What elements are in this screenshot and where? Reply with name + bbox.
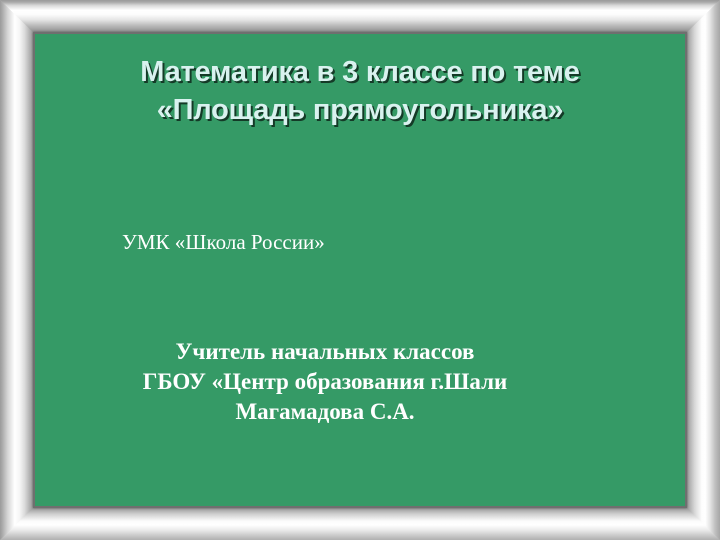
frame-border-left xyxy=(0,0,35,540)
presentation-slide: Математика в 3 классе по теме «Площадь п… xyxy=(0,0,720,540)
slide-board: Математика в 3 классе по теме «Площадь п… xyxy=(35,34,685,506)
frame-border-top xyxy=(0,0,720,34)
author-name: Магамадова С.А. xyxy=(35,397,615,427)
slide-author-block: Учитель начальных классов ГБОУ «Центр об… xyxy=(35,337,615,427)
slide-title-line-2: «Площадь прямоугольника» xyxy=(35,91,685,129)
slide-subtitle-umk: УМК «Школа России» xyxy=(122,229,325,255)
slide-title-line-1: Математика в 3 классе по теме xyxy=(35,53,685,91)
author-institution: ГБОУ «Центр образования г.Шали xyxy=(35,367,615,397)
author-role: Учитель начальных классов xyxy=(35,337,615,367)
slide-title: Математика в 3 классе по теме «Площадь п… xyxy=(35,53,685,129)
frame-border-right xyxy=(685,0,720,540)
frame-border-bottom xyxy=(0,506,720,540)
